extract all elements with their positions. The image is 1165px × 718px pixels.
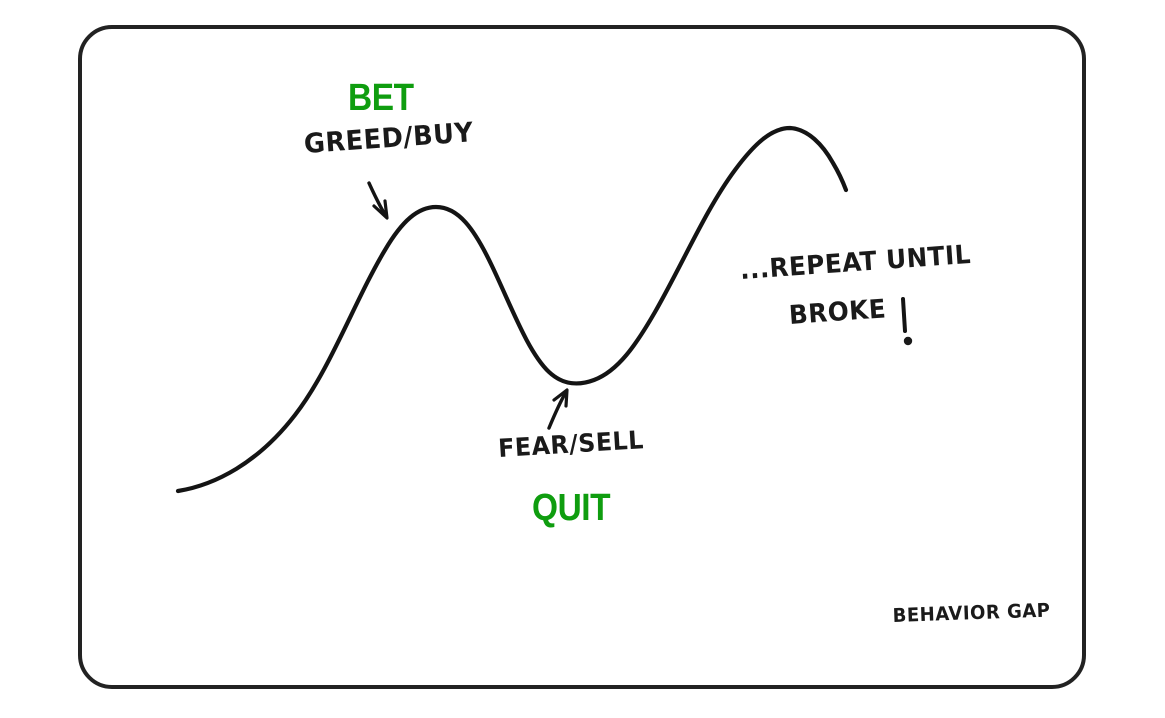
annotation-bet: BET [348, 79, 414, 117]
whiteboard-canvas: BET QUIT GREED/BUY FEAR/SELL ...REPEAT U… [0, 0, 1165, 718]
signature-behavior-gap: BEHAVIOR GAP [892, 602, 1050, 626]
annotation-quit: QUIT [532, 489, 610, 527]
exclamation-stroke [903, 299, 905, 331]
annotation-broke: BROKE [788, 296, 887, 329]
exclamation-dot [904, 337, 912, 345]
